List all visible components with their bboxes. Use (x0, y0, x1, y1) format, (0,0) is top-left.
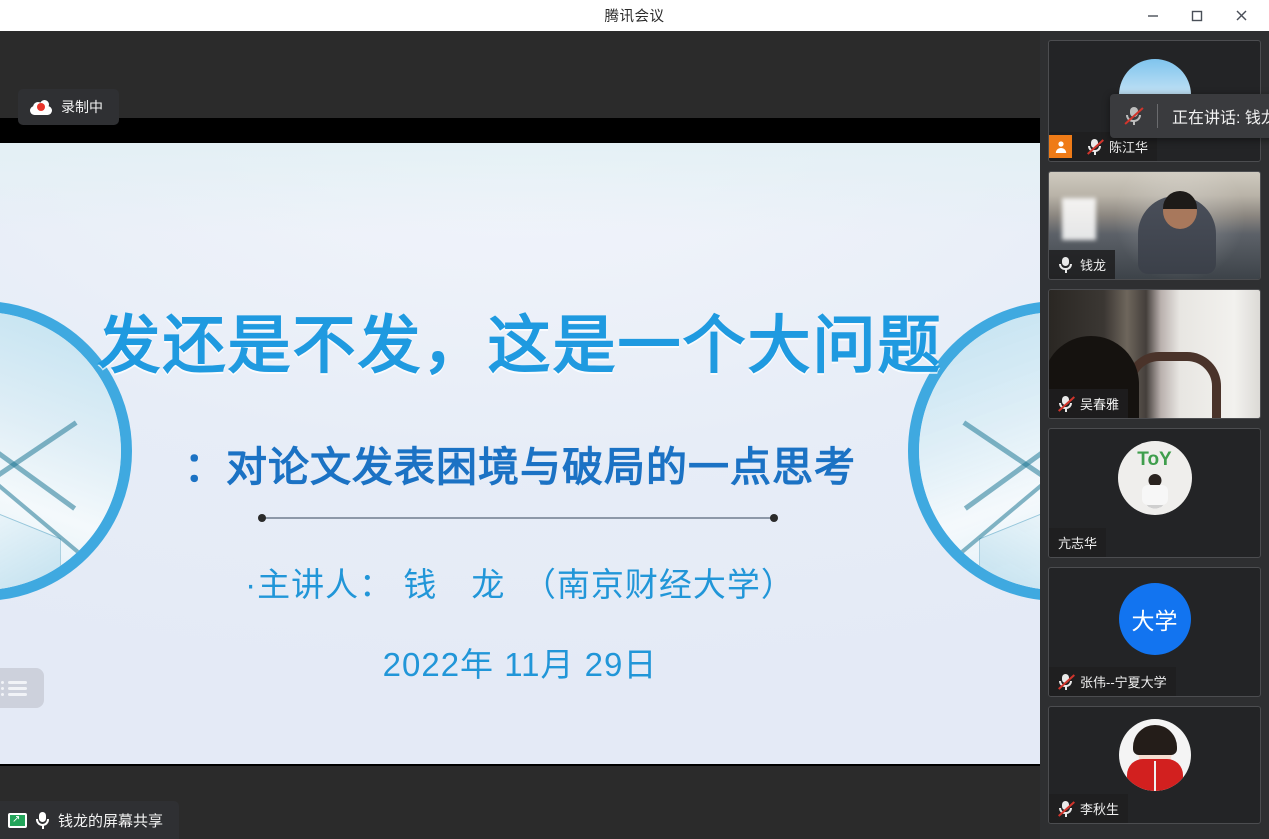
mic-on-icon (36, 812, 49, 829)
participant-namebar: 李秋生 (1049, 794, 1128, 823)
participant-namebar: 钱龙 (1049, 250, 1115, 279)
title-bar: 腾讯会议 (0, 0, 1269, 31)
share-status-bar: ↗ 钱龙的屏幕共享 (0, 801, 179, 839)
meeting-window: 腾讯会议 录制中 (0, 0, 1269, 839)
text-avatar: 大学 (1119, 583, 1191, 655)
recording-label: 录制中 (61, 97, 103, 117)
participant-tile[interactable]: ToY 亢志华 (1048, 428, 1261, 558)
recording-indicator: 录制中 (18, 89, 119, 125)
participant-tile[interactable]: 大学 张伟--宁夏大学 (1048, 567, 1261, 697)
participant-tile[interactable]: 钱龙 (1048, 171, 1261, 280)
mic-muted-icon (1057, 800, 1074, 818)
participant-name: 亢志华 (1058, 533, 1097, 552)
slide-presenter: ·主讲人： 钱 龙 （南京财经大学） (0, 558, 1040, 606)
presentation-slide: 发还是不发，这是一个大问题 ：对论文发表困境与破局的一点思考 ·主讲人： 钱 龙… (0, 143, 1040, 764)
participant-name: 李秋生 (1080, 799, 1119, 818)
participant-namebar: 亢志华 (1049, 528, 1106, 557)
mic-on-icon (1057, 256, 1074, 274)
participant-tile[interactable]: 吴春雅 (1048, 289, 1261, 419)
minimize-icon[interactable] (1131, 0, 1175, 31)
participant-name: 钱龙 (1080, 255, 1106, 274)
slide-date: 2022年 11月 29日 (0, 638, 1040, 686)
letterbox-top (0, 118, 1040, 143)
person-icon (1049, 135, 1072, 158)
participant-name: 吴春雅 (1080, 394, 1119, 413)
participant-name: 陈江华 (1109, 137, 1148, 156)
photo-avatar: ToY (1118, 441, 1192, 515)
participant-sidebar[interactable]: 陈江华 钱龙 (1040, 31, 1269, 839)
share-status-label: 钱龙的屏幕共享 (58, 810, 163, 831)
participant-name: 张伟--宁夏大学 (1080, 672, 1167, 691)
maximize-icon[interactable] (1175, 0, 1219, 31)
shared-screen-stage[interactable]: 录制中 发还是不发，这是一个大问题 (0, 31, 1040, 839)
speaking-tooltip: 正在讲话: 钱龙 (1110, 94, 1269, 138)
speaking-tooltip-label: 正在讲话: 钱龙 (1172, 104, 1269, 128)
mic-muted-icon (1086, 138, 1103, 156)
slide-divider-rule (262, 517, 774, 519)
screen-share-icon: ↗ (8, 813, 27, 828)
participant-tile[interactable]: 李秋生 (1048, 706, 1261, 824)
window-controls (1131, 0, 1269, 31)
participant-namebar: 张伟--宁夏大学 (1049, 667, 1176, 696)
close-icon[interactable] (1219, 0, 1269, 31)
slide-title: 发还是不发，这是一个大问题 (0, 295, 1040, 386)
slide-list-icon[interactable] (0, 668, 44, 708)
participant-namebar: 吴春雅 (1049, 389, 1128, 418)
app-title: 腾讯会议 (605, 5, 665, 26)
slide-subtitle: ：对论文发表困境与破局的一点思考 (0, 433, 1040, 493)
mic-muted-icon (1057, 673, 1074, 691)
mic-muted-icon (1124, 106, 1143, 126)
cartoon-avatar (1119, 719, 1191, 791)
mic-muted-icon (1057, 395, 1074, 413)
tooltip-divider (1157, 104, 1158, 128)
cloud-record-icon (30, 100, 52, 115)
